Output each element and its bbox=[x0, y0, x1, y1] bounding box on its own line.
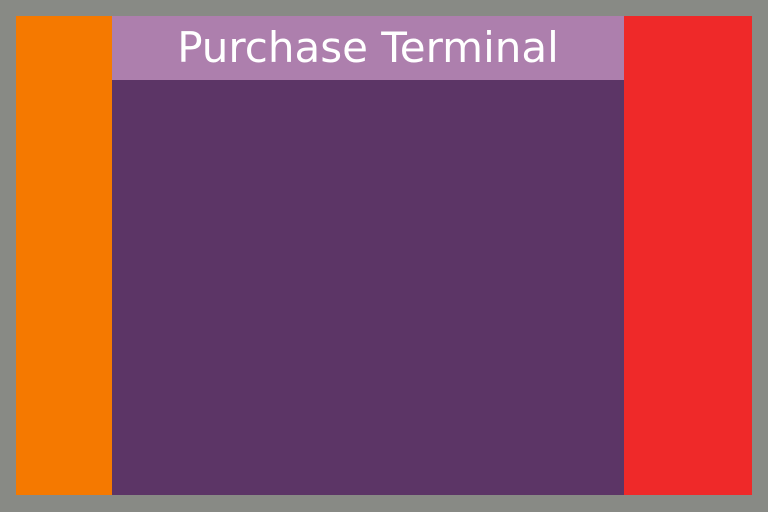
terminal-titlebar: Purchase Terminal bbox=[112, 16, 624, 80]
terminal-window: Purchase Terminal bbox=[112, 16, 624, 495]
left-accent-rail bbox=[16, 16, 112, 495]
terminal-content-area bbox=[112, 80, 624, 495]
app-canvas: Purchase Terminal bbox=[0, 0, 768, 512]
window-title: Purchase Terminal bbox=[177, 27, 559, 69]
right-accent-rail bbox=[624, 16, 752, 495]
